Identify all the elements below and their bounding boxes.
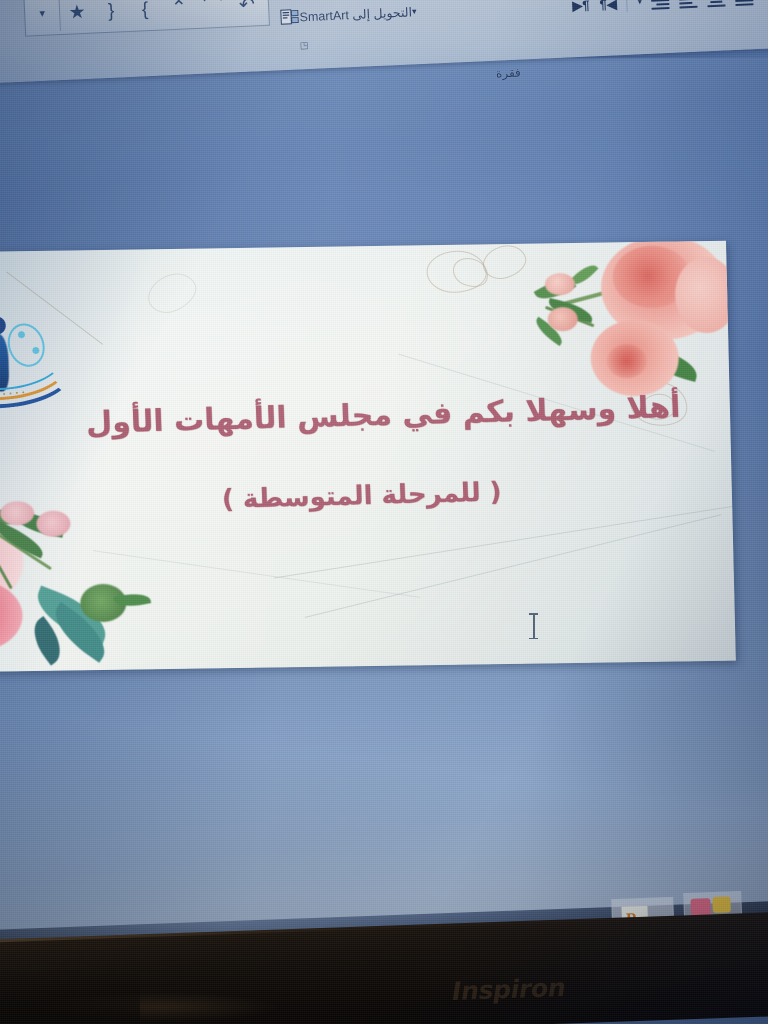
convert-to-smartart-label: التحويل إلى SmartArt: [299, 4, 412, 24]
outline-rose-watermark: [426, 250, 487, 293]
outline-rose-watermark: [479, 241, 531, 284]
outline-rose-watermark: [142, 266, 203, 320]
shapes-dialog-launcher-icon[interactable]: ◳: [300, 41, 309, 50]
paragraph-group-label: فقرة: [496, 65, 521, 80]
rose-bud: [36, 510, 71, 536]
slide-title-line-1[interactable]: أهلا وسهلا بكم في مجلس الأمهات الأول: [85, 390, 680, 441]
columns-dropdown-arrow-icon[interactable]: ▾: [638, 0, 642, 6]
laptop-brand-logo: Inspiron: [452, 973, 566, 1006]
logo-figure-head: [0, 316, 6, 334]
freeform-shape-icon[interactable]: ↶: [229, 0, 265, 25]
bezel-left-shadow: [0, 968, 140, 1024]
smartart-icon: [279, 7, 300, 26]
shapes-gallery[interactable]: ▾ ★ } { ⌃ ⌒ ↶: [23, 0, 270, 37]
laptop-screen-photo: ▾ ★ } { ⌃ ⌒ ↶ محاذاة النص: [0, 0, 768, 1024]
slide-scratch: [274, 505, 736, 578]
slide-title-line-2[interactable]: ( للمرحلة المتوسطة ): [221, 477, 502, 515]
slide-scratch: [305, 514, 722, 618]
rose-bud: [547, 307, 578, 331]
pink-rosebuds-decoration-bottom-left: [0, 499, 181, 672]
slide-canvas[interactable]: مدارس • • • • • • • •: [0, 241, 736, 672]
curve-shape-icon[interactable]: ⌒: [195, 0, 231, 27]
left-brace-shape-icon[interactable]: {: [127, 0, 163, 30]
align-right-icon[interactable]: [651, 0, 670, 12]
justify-icon[interactable]: [735, 0, 754, 8]
align-left-icon[interactable]: [679, 0, 698, 10]
logo-network-node: [18, 331, 25, 338]
ibeam-cap-bottom: [529, 638, 538, 640]
rtl-text-direction-icon[interactable]: ▶¶: [572, 0, 590, 12]
star-shape-icon[interactable]: ★: [59, 0, 95, 33]
school-logo: مدارس • • • • • • • •: [0, 268, 94, 420]
rose-bud: [545, 273, 576, 295]
shapes-more-arrow-icon[interactable]: ▾: [24, 0, 60, 35]
ltr-text-direction-icon[interactable]: ¶◀: [599, 0, 617, 11]
paragraph-buttons-row-2[interactable]: ▶¶ ¶◀ ▾: [572, 0, 754, 15]
arc-shape-icon[interactable]: ⌃: [161, 0, 197, 28]
right-brace-shape-icon[interactable]: }: [93, 0, 129, 32]
text-cursor-ibeam: [529, 612, 538, 640]
outline-rose-watermark: [449, 253, 493, 292]
divider: [626, 0, 628, 12]
align-center-icon[interactable]: [707, 0, 726, 9]
convert-to-smartart-command[interactable]: التحويل إلى SmartArt ▾: [274, 2, 422, 27]
smartart-dropdown-arrow-icon[interactable]: ▾: [412, 7, 417, 16]
ibeam-stem: [533, 614, 535, 638]
